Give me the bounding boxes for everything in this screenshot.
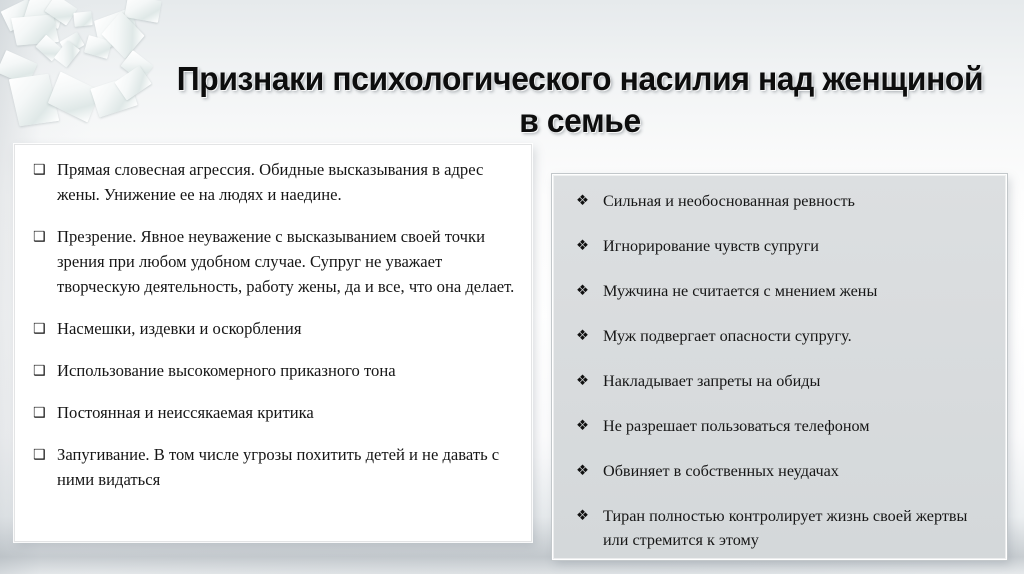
- floret-diamond-bullet-icon: ❖: [576, 459, 589, 483]
- flying-papers-decoration: [0, 0, 182, 136]
- paper-sheet: [11, 14, 59, 45]
- list-item: ❑ Презрение. Явное неуважение с высказыв…: [25, 224, 515, 299]
- paper-sheet: [94, 7, 138, 50]
- list-item-text: Постоянная и неиссякаемая критика: [57, 400, 515, 425]
- list-item: ❑ Насмешки, издевки и оскорбления: [25, 316, 515, 341]
- paper-sheet: [60, 32, 85, 55]
- paper-sheet: [9, 74, 59, 127]
- list-item-text: Тиран полностью контролирует жизнь своей…: [603, 504, 990, 552]
- paper-sheet: [84, 35, 112, 59]
- hollow-square-bullet-icon: ❑: [33, 158, 46, 183]
- floret-diamond-bullet-icon: ❖: [576, 234, 589, 258]
- list-item-text: Использование высокомерного приказного т…: [57, 358, 515, 383]
- hollow-square-bullet-icon: ❑: [33, 317, 46, 342]
- floret-diamond-bullet-icon: ❖: [576, 324, 589, 348]
- floret-diamond-bullet-icon: ❖: [576, 369, 589, 393]
- list-item: ❑ Прямая словесная агрессия. Обидные выс…: [25, 157, 515, 207]
- paper-sheet: [114, 65, 151, 100]
- left-bullet-list: ❑ Прямая словесная агрессия. Обидные выс…: [25, 157, 515, 492]
- list-item: ❖ Сильная и необоснованная ревность: [563, 189, 990, 213]
- list-item-text: Муж подвергает опасности супругу.: [603, 324, 990, 348]
- list-item-text: Запугивание. В том числе угрозы похитить…: [57, 442, 515, 492]
- paper-sheet: [0, 50, 37, 86]
- list-item: ❖ Накладывает запреты на обиды: [563, 369, 990, 393]
- paper-sheet: [1, 0, 38, 31]
- paper-sheet: [121, 50, 154, 82]
- paper-sheet: [54, 40, 80, 67]
- paper-sheet: [73, 11, 92, 27]
- paper-sheet: [24, 0, 66, 29]
- list-item-text: Игнорирование чувств супруги: [603, 234, 990, 258]
- hollow-square-bullet-icon: ❑: [33, 225, 46, 250]
- hollow-square-bullet-icon: ❑: [33, 359, 46, 384]
- paper-sheet: [35, 35, 62, 62]
- floret-diamond-bullet-icon: ❖: [576, 504, 589, 528]
- list-item-text: Сильная и необоснованная ревность: [603, 189, 990, 213]
- list-item: ❑ Постоянная и неиссякаемая критика: [25, 400, 515, 425]
- list-item: ❖ Обвиняет в собственных неудачах: [563, 459, 990, 483]
- list-item: ❖ Игнорирование чувств супруги: [563, 234, 990, 258]
- list-item-text: Насмешки, издевки и оскорбления: [57, 316, 515, 341]
- slide-canvas: Признаки психологического насилия над же…: [0, 0, 1024, 574]
- slide-title: Признаки психологического насилия над же…: [165, 58, 995, 142]
- hollow-square-bullet-icon: ❑: [33, 443, 46, 468]
- list-item-text: Презрение. Явное неуважение с высказыван…: [57, 224, 515, 299]
- right-content-panel: ❖ Сильная и необоснованная ревность ❖ Иг…: [552, 174, 1007, 560]
- right-bullet-list: ❖ Сильная и необоснованная ревность ❖ Иг…: [563, 189, 990, 552]
- left-content-panel: ❑ Прямая словесная агрессия. Обидные выс…: [14, 144, 532, 542]
- paper-sheet: [101, 11, 144, 59]
- paper-sheet: [48, 72, 100, 123]
- list-item: ❖ Муж подвергает опасности супругу.: [563, 324, 990, 348]
- paper-sheet: [45, 0, 78, 26]
- list-item-text: Мужчина не считается с мнением жены: [603, 279, 990, 303]
- floret-diamond-bullet-icon: ❖: [576, 189, 589, 213]
- paper-sheet: [90, 77, 137, 118]
- list-item: ❖ Тиран полностью контролирует жизнь сво…: [563, 504, 990, 552]
- hollow-square-bullet-icon: ❑: [33, 401, 46, 426]
- list-item: ❑ Использование высокомерного приказного…: [25, 358, 515, 383]
- list-item: ❖ Мужчина не считается с мнением жены: [563, 279, 990, 303]
- list-item-text: Прямая словесная агрессия. Обидные выска…: [57, 157, 515, 207]
- floret-diamond-bullet-icon: ❖: [576, 279, 589, 303]
- list-item-text: Накладывает запреты на обиды: [603, 369, 990, 393]
- list-item: ❖ Не разрешает пользоваться телефоном: [563, 414, 990, 438]
- list-item-text: Не разрешает пользоваться телефоном: [603, 414, 990, 438]
- floret-diamond-bullet-icon: ❖: [576, 414, 589, 438]
- list-item-text: Обвиняет в собственных неудачах: [603, 459, 990, 483]
- paper-sheet: [124, 0, 161, 23]
- list-item: ❑ Запугивание. В том числе угрозы похити…: [25, 442, 515, 492]
